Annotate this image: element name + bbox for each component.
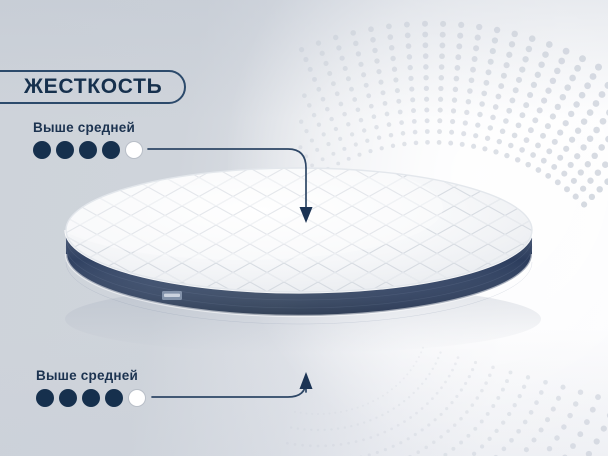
rating-group-bottom: Выше средней (36, 368, 146, 407)
infographic-canvas: ЖЕСТКОСТЬ Выше средней Выше средней (0, 0, 608, 456)
rating-label-bottom: Выше средней (36, 368, 146, 383)
rating-dot-4 (105, 389, 123, 407)
rating-dots-top (33, 141, 143, 159)
rating-dot-2 (59, 389, 77, 407)
rating-dot-4 (102, 141, 120, 159)
rating-dot-3 (82, 389, 100, 407)
rating-dot-1 (33, 141, 51, 159)
product-illustration (63, 168, 535, 358)
rating-dot-3 (79, 141, 97, 159)
rating-dot-5 (125, 141, 143, 159)
rating-dot-5 (128, 389, 146, 407)
badge-label: ЖЕСТКОСТЬ (24, 75, 162, 99)
brand-tag (162, 291, 182, 300)
rating-group-top: Выше средней (33, 120, 143, 159)
rating-dot-2 (56, 141, 74, 159)
firmness-badge: ЖЕСТКОСТЬ (0, 70, 186, 104)
rating-label-top: Выше средней (33, 120, 143, 135)
rating-dots-bottom (36, 389, 146, 407)
rating-dot-1 (36, 389, 54, 407)
